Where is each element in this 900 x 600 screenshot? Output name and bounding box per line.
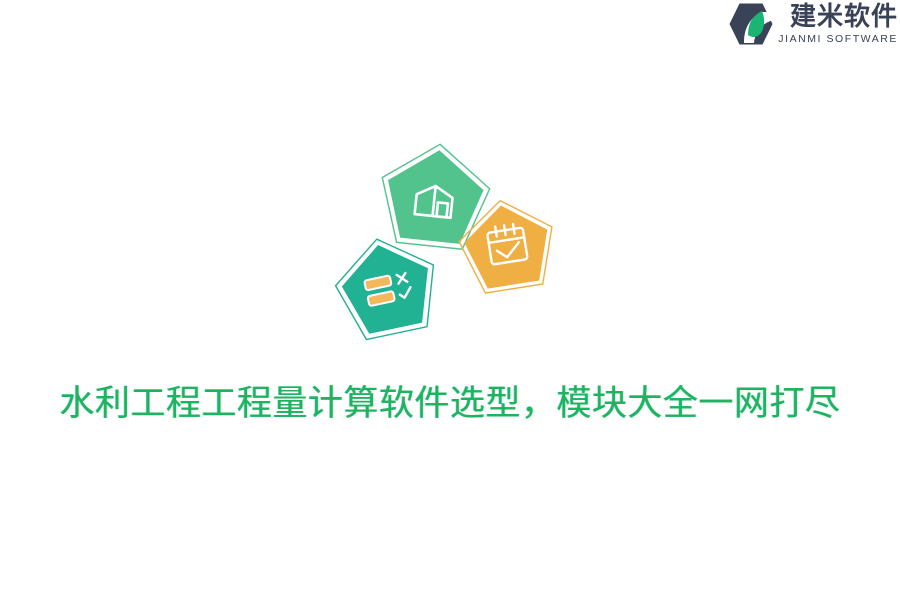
page-title-container: 水利工程工程量计算软件选型，模块大全一网打尽 — [0, 358, 900, 452]
brand-name-en: JIANMI SOFTWARE — [778, 34, 898, 45]
pentagon-cluster — [330, 140, 570, 350]
brand-wordmark: 建米软件 JIANMI SOFTWARE — [778, 4, 898, 45]
pentagon-cluster-svg — [330, 140, 570, 350]
brand-header: 建米软件 JIANMI SOFTWARE — [700, 0, 900, 48]
brand-name-cn: 建米软件 — [790, 4, 898, 31]
hero-illustration — [0, 130, 900, 360]
jianmi-hexagon-leaf-logo-icon — [728, 2, 774, 46]
page-title: 水利工程工程量计算软件选型，模块大全一网打尽 — [59, 381, 840, 428]
